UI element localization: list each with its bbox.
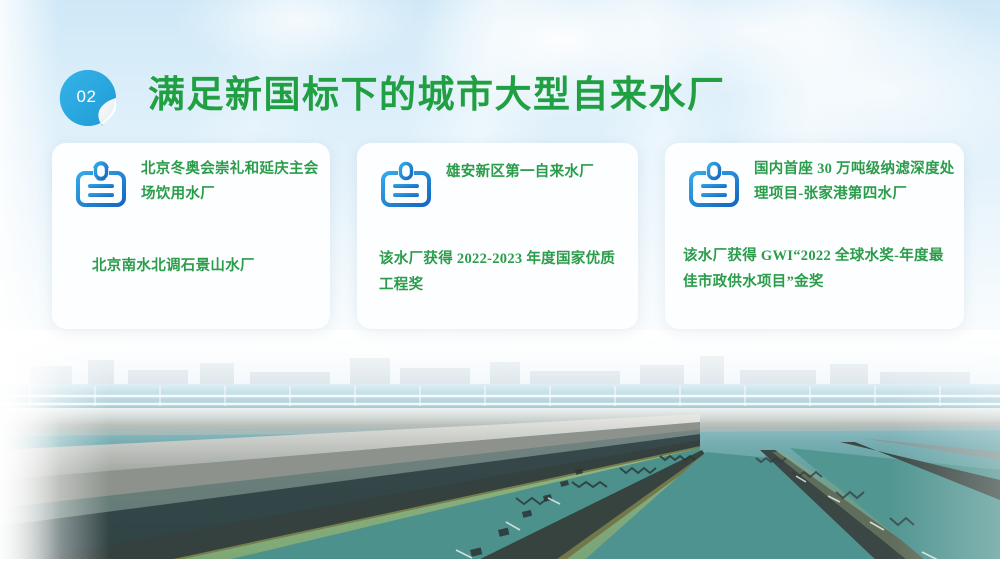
bottom-white-strip [0, 559, 1000, 564]
highlight-card[interactable]: 国内首座 30 万吨级纳滤深度处理项目-张家港第四水厂 该水厂获得 GWI“20… [665, 143, 964, 329]
card-header: 国内首座 30 万吨级纳滤深度处理项目-张家港第四水厂 [665, 157, 964, 211]
water-plant-photo [0, 330, 1000, 564]
card-title: 国内首座 30 万吨级纳滤深度处理项目-张家港第四水厂 [754, 157, 956, 207]
card-header: 北京冬奥会崇礼和延庆主会场饮用水厂 [52, 157, 330, 211]
presentation-slide: 02 满足新国标下的城市大型自来水厂 [0, 0, 1000, 564]
card-body-text: 北京南水北调石景山水厂 [92, 253, 314, 279]
page-title: 满足新国标下的城市大型自来水厂 [148, 68, 726, 124]
highlight-card[interactable]: 雄安新区第一自来水厂 该水厂获得 2022-2023 年度国家优质工程奖 [357, 143, 638, 329]
highlight-cards: 北京冬奥会崇礼和延庆主会场饮用水厂 北京南水北调石景山水厂 [0, 143, 1000, 333]
card-title: 雄安新区第一自来水厂 [446, 160, 594, 185]
id-badge-icon [379, 161, 433, 211]
id-badge-icon [74, 161, 128, 211]
id-badge-icon [687, 161, 741, 211]
card-header: 雄安新区第一自来水厂 [357, 157, 638, 211]
card-body-text: 该水厂获得 GWI“2022 全球水奖-年度最佳市政供水项目”金奖 [683, 243, 952, 295]
card-body-text: 该水厂获得 2022-2023 年度国家优质工程奖 [379, 246, 622, 298]
card-title: 北京冬奥会崇礼和延庆主会场饮用水厂 [141, 157, 322, 207]
slide-header: 02 满足新国标下的城市大型自来水厂 [0, 30, 1000, 102]
highlight-card[interactable]: 北京冬奥会崇礼和延庆主会场饮用水厂 北京南水北调石景山水厂 [52, 143, 330, 329]
section-number-label: 02 [58, 68, 118, 128]
